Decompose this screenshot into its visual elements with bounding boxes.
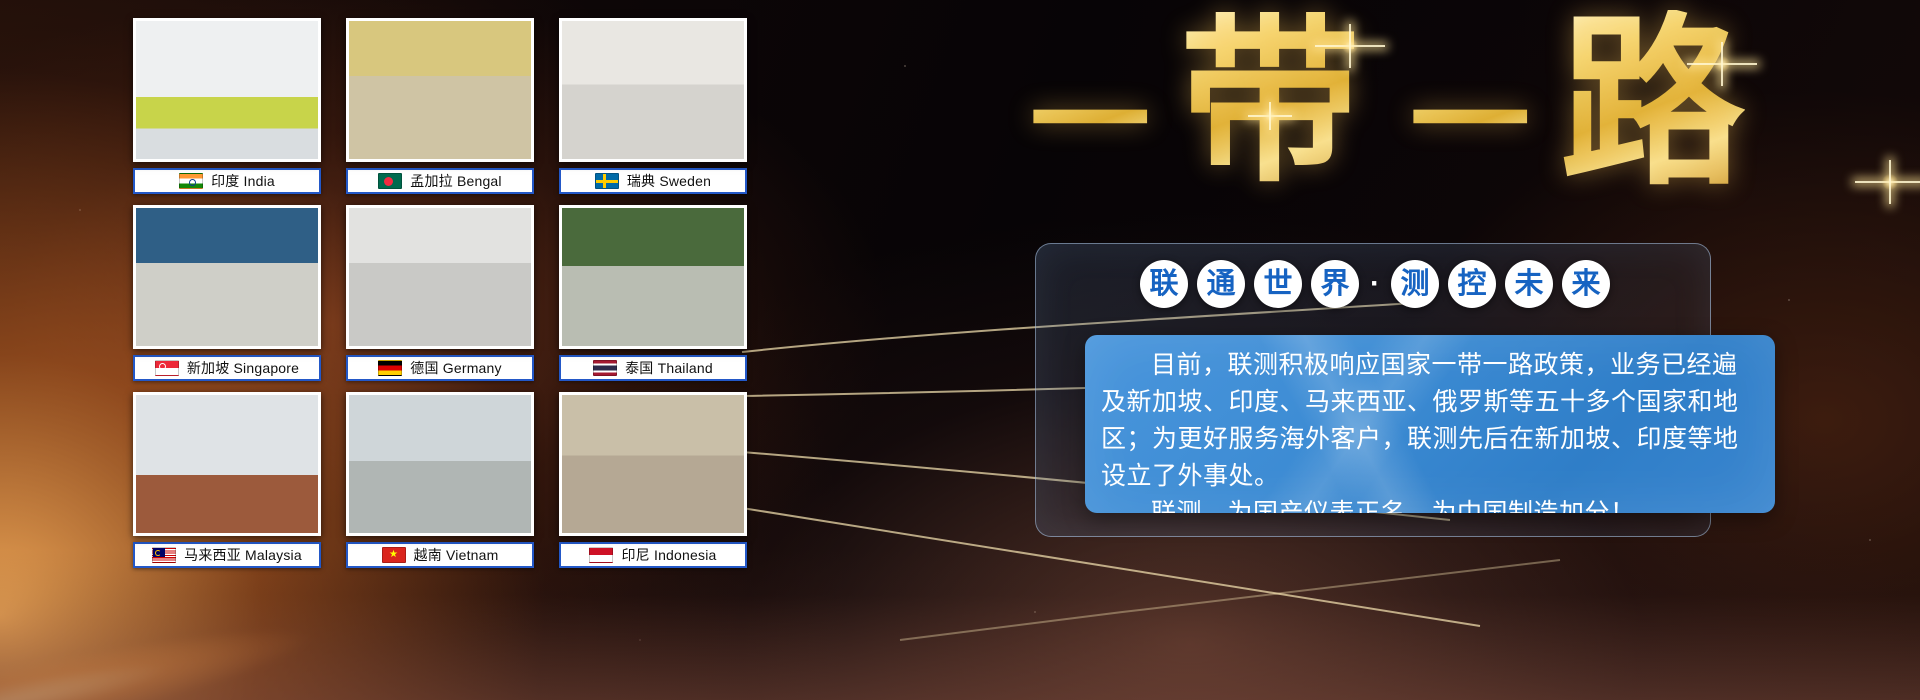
country-label-text: 德国 Germany xyxy=(410,361,501,375)
calligraphy-title: 一 带 一 路 xyxy=(1010,4,1910,204)
country-label: 新加坡 Singapore xyxy=(133,355,321,381)
country-label: 越南 Vietnam xyxy=(346,542,534,568)
bd-flag-icon xyxy=(378,173,402,189)
se-flag-icon xyxy=(595,173,619,189)
slogan-row: 联 通 世 界 · 测 控 未 来 xyxy=(1140,260,1610,308)
in-flag-icon xyxy=(179,173,203,189)
country-label-text: 印尼 Indonesia xyxy=(621,548,716,562)
gallery-item[interactable]: 印尼 Indonesia xyxy=(559,392,747,570)
country-photo[interactable] xyxy=(346,205,534,349)
country-label-text: 马来西亚 Malaysia xyxy=(184,548,302,562)
description-paragraph-1: 目前，联测积极响应国家一带一路政策，业务已经遍及新加坡、印度、马来西亚、俄罗斯等… xyxy=(1085,335,1775,494)
country-label-text: 泰国 Thailand xyxy=(625,361,713,375)
country-label-text: 越南 Vietnam xyxy=(414,548,499,562)
slogan-chip: 联 xyxy=(1140,260,1188,308)
country-label: 德国 Germany xyxy=(346,355,534,381)
country-label: 印度 India xyxy=(133,168,321,194)
gallery-item[interactable]: 泰国 Thailand xyxy=(559,205,747,383)
belt-and-road-banner: 印度 India 孟加拉 Bengal 瑞典 Sweden xyxy=(0,0,1920,700)
country-photo[interactable] xyxy=(346,18,534,162)
slogan-chip: 未 xyxy=(1505,260,1553,308)
country-photo[interactable] xyxy=(133,205,321,349)
slogan-chip: 测 xyxy=(1391,260,1439,308)
gallery-item[interactable]: 新加坡 Singapore xyxy=(133,205,321,383)
country-photo[interactable] xyxy=(133,392,321,536)
description-paragraph-2: 联测，为国产仪表正名，为中国制造加分！ xyxy=(1085,494,1775,513)
country-label: 泰国 Thailand xyxy=(559,355,747,381)
country-label: 印尼 Indonesia xyxy=(559,542,747,568)
country-label: 孟加拉 Bengal xyxy=(346,168,534,194)
country-label-text: 孟加拉 Bengal xyxy=(410,174,501,188)
country-photo[interactable] xyxy=(133,18,321,162)
th-flag-icon xyxy=(593,360,617,376)
country-photo[interactable] xyxy=(559,18,747,162)
slogan-chip: 通 xyxy=(1197,260,1245,308)
calligraphy-char-3: 一 xyxy=(1410,62,1530,182)
gallery-item[interactable]: 印度 India xyxy=(133,18,321,196)
gallery-item[interactable]: 马来西亚 Malaysia xyxy=(133,392,321,570)
country-label: 马来西亚 Malaysia xyxy=(133,542,321,568)
country-label-text: 新加坡 Singapore xyxy=(187,361,299,375)
country-photo[interactable] xyxy=(559,205,747,349)
calligraphy-char-1: 一 xyxy=(1030,62,1150,182)
calligraphy-char-4: 路 xyxy=(1560,10,1745,195)
id-flag-icon xyxy=(589,547,613,563)
de-flag-icon xyxy=(378,360,402,376)
country-label-text: 瑞典 Sweden xyxy=(627,174,711,188)
slogan-chip: 控 xyxy=(1448,260,1496,308)
slogan-chip: 界 xyxy=(1311,260,1359,308)
country-photo-grid: 印度 India 孟加拉 Bengal 瑞典 Sweden xyxy=(133,18,758,583)
calligraphy-char-2: 带 xyxy=(1180,12,1360,192)
slogan-chip: 来 xyxy=(1562,260,1610,308)
slogan-separator: · xyxy=(1368,269,1382,299)
my-flag-icon xyxy=(152,547,176,563)
slogan-chip: 世 xyxy=(1254,260,1302,308)
country-label: 瑞典 Sweden xyxy=(559,168,747,194)
gallery-item[interactable]: 德国 Germany xyxy=(346,205,534,383)
gallery-item[interactable]: 越南 Vietnam xyxy=(346,392,534,570)
country-label-text: 印度 India xyxy=(211,174,275,188)
country-photo[interactable] xyxy=(559,392,747,536)
sg-flag-icon xyxy=(155,360,179,376)
gallery-item[interactable]: 瑞典 Sweden xyxy=(559,18,747,196)
gallery-item[interactable]: 孟加拉 Bengal xyxy=(346,18,534,196)
vn-flag-icon xyxy=(382,547,406,563)
country-photo[interactable] xyxy=(346,392,534,536)
description-box: 目前，联测积极响应国家一带一路政策，业务已经遍及新加坡、印度、马来西亚、俄罗斯等… xyxy=(1085,335,1775,513)
